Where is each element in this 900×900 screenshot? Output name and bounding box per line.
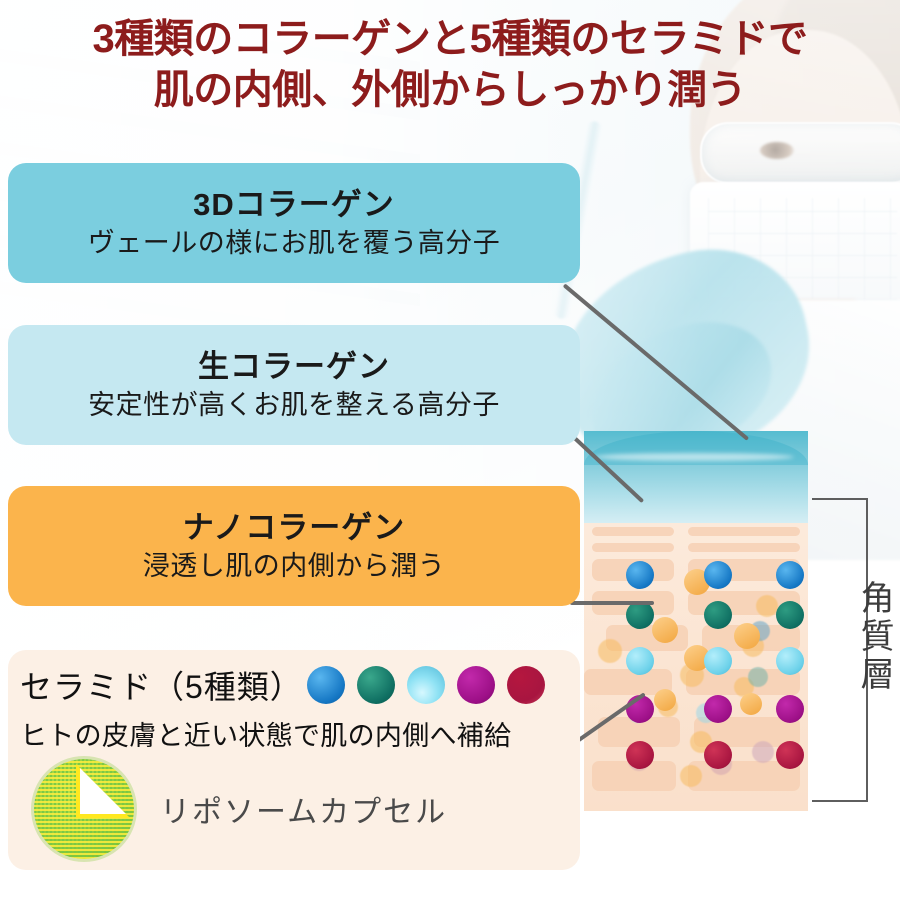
nano-collagen-dot: [740, 693, 762, 715]
photo-neck: [735, 300, 855, 420]
card-nano-collagen-heading: ナノコラーゲン: [183, 510, 405, 546]
ceramide-swatch-magenta: [457, 666, 495, 704]
ceramide-cyan-dot: [776, 647, 804, 675]
card-3d-collagen-sub: ヴェールの様にお肌を覆う高分子: [88, 227, 501, 259]
card-nama-collagen-sub: 安定性が高くお肌を整える高分子: [88, 389, 500, 421]
ceramide-cyan-dot: [626, 647, 654, 675]
card-3d-collagen-heading: 3Dコラーゲン: [193, 187, 395, 223]
liposome-capsule-icon: [34, 759, 134, 859]
ceramide-blue-dot: [626, 561, 654, 589]
photo-safety-goggles: [700, 122, 900, 184]
ceramide-blue-dot: [704, 561, 732, 589]
nano-collagen-dot: [756, 595, 778, 617]
ceramide-blue-dot: [776, 561, 804, 589]
infographic-page: 3種類のコラーゲンと5種類のセラミドで 肌の内側、外側からしっかり潤う: [0, 0, 900, 900]
card-nama-collagen-heading: 生コラーゲン: [198, 349, 390, 385]
photo-eye: [760, 142, 794, 159]
nano-collagen-dot: [654, 689, 676, 711]
card-ceramide[interactable]: セラミド（5種類） ヒトの皮膚と近い状態で肌の内側へ補給 リポソームカプセル: [8, 650, 580, 870]
ceramide-faint-dot: [748, 667, 768, 687]
nano-collagen-dot: [598, 639, 622, 663]
liposome-label: リポソームカプセル: [160, 787, 447, 831]
page-title: 3種類のコラーゲンと5種類のセラミドで 肌の内側、外側からしっかり潤う: [0, 14, 900, 116]
ceramide-crimson-dot: [626, 741, 654, 769]
photo-surgical-mask: [690, 182, 900, 352]
card-nano-collagen[interactable]: ナノコラーゲン 浸透し肌の内側から潤う: [8, 486, 580, 606]
ceramide-teal-dot: [704, 601, 732, 629]
ceramide-magenta-dot: [704, 695, 732, 723]
nano-collagen-dot: [734, 623, 760, 649]
corneocyte-bar: [688, 527, 800, 536]
corneocyte-bar: [592, 527, 674, 536]
ceramide-crimson-dot: [776, 741, 804, 769]
ceramide-label: セラミド（5種類）: [20, 662, 303, 708]
stratum-corneum-label: 角質層: [845, 580, 891, 694]
nano-collagen-dot: [652, 617, 678, 643]
ceramide-sub: ヒトの皮膚と近い状態で肌の内側へ補給: [20, 714, 580, 753]
nano-collagen-dot: [680, 765, 702, 787]
skin-cross-section-diagram: [584, 413, 808, 811]
ceramide-swatch-cyan: [407, 666, 445, 704]
ceramide-swatch-crimson: [507, 666, 545, 704]
moisture-layer-highlight: [594, 453, 794, 461]
ceramide-swatch-teal: [357, 666, 395, 704]
corneocyte-bar: [592, 543, 674, 552]
ceramide-cyan-dot: [704, 647, 732, 675]
ceramide-crimson-dot: [704, 741, 732, 769]
ceramide-teal-dot: [626, 601, 654, 629]
corneocyte-bar: [688, 543, 800, 552]
ceramide-title-row: セラミド（5種類）: [20, 662, 580, 708]
ceramide-swatch-blue: [307, 666, 345, 704]
ceramide-swatch-group: [307, 666, 545, 704]
skin-body: [584, 431, 808, 811]
card-3d-collagen[interactable]: 3Dコラーゲン ヴェールの様にお肌を覆う高分子: [8, 163, 580, 283]
liposome-row: リポソームカプセル: [20, 759, 580, 859]
title-line-2: 肌の内側、外側からしっかり潤う: [0, 65, 900, 116]
card-nano-collagen-sub: 浸透し肌の内側から潤う: [143, 550, 446, 582]
liposome-cut-interior: [80, 768, 126, 814]
title-line-1: 3種類のコラーゲンと5種類のセラミドで: [93, 17, 808, 61]
ceramide-teal-dot: [776, 601, 804, 629]
ceramide-faint-dot: [752, 741, 774, 763]
card-nama-collagen[interactable]: 生コラーゲン 安定性が高くお肌を整える高分子: [8, 325, 580, 445]
connector-line-nano-collagen: [570, 601, 654, 605]
ceramide-magenta-dot: [776, 695, 804, 723]
